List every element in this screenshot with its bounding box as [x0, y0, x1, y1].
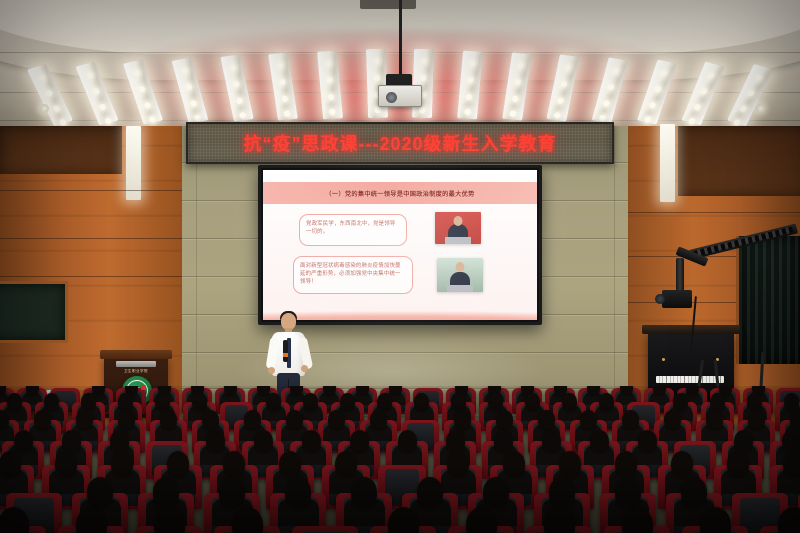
audience-head [285, 477, 311, 507]
audience-head [451, 393, 466, 410]
audience-member [351, 477, 377, 507]
podium-top-surface [100, 350, 172, 359]
audience-member [55, 451, 77, 477]
portrait-podium [447, 285, 473, 292]
video-camera-icon [662, 290, 692, 308]
audience-member [224, 386, 237, 395]
audience-member [219, 477, 245, 507]
audience-member [303, 393, 318, 410]
audience-head [81, 393, 96, 410]
audience-member [664, 410, 681, 429]
audience-member [154, 507, 185, 533]
audience-head [622, 507, 653, 533]
audience-head [599, 393, 614, 410]
wood-seam [0, 190, 182, 191]
audience-member [244, 410, 261, 429]
audience-head [34, 410, 51, 429]
audience-head [706, 410, 723, 429]
audience-head [748, 410, 765, 429]
slide-quote-text-1: 党政军民学，东西南北中，党是领导一切的。 [306, 220, 400, 236]
audience-member [734, 430, 753, 452]
wood-seam [0, 276, 182, 277]
audience-head [160, 410, 177, 429]
downlight-icon [40, 104, 49, 113]
audience-member [377, 393, 392, 410]
audience-head [590, 430, 609, 452]
audience-head [219, 477, 245, 507]
portrait-podium [445, 237, 471, 244]
audience-member [370, 410, 387, 429]
slide-quote-box-2: 面对新型冠状病毒感染的肺炎疫情加快蔓延的严重形势，必须加强党中央集中统一领导！ [293, 256, 413, 294]
audience-head [111, 451, 133, 477]
audience-head [110, 430, 129, 452]
audience-head [26, 386, 39, 395]
audience-member [417, 477, 443, 507]
audience-member [290, 386, 303, 395]
audience-head [167, 451, 189, 477]
audience-head [0, 451, 21, 477]
audience-head [681, 477, 707, 507]
audience-member [590, 430, 609, 452]
audience-member [110, 430, 129, 452]
audience-head [615, 451, 637, 477]
led-banner-text: 抗“疫”思政课---2020级新生入学教育 [243, 130, 556, 156]
audience-member [587, 386, 600, 395]
audience-member [706, 410, 723, 429]
audience-head [350, 430, 369, 452]
audience-head [76, 410, 93, 429]
ceiling-seam [0, 120, 800, 121]
audience-head [351, 477, 377, 507]
wood-seam [628, 212, 800, 213]
wood-seam [0, 238, 182, 239]
audience-head [155, 393, 170, 410]
audience-head [466, 507, 497, 533]
audience-head [562, 393, 577, 410]
audience-member [206, 430, 225, 452]
audience-head [232, 507, 263, 533]
audience-member [279, 451, 301, 477]
audience-member [44, 393, 59, 410]
right-stage-alcove [736, 236, 800, 364]
left-recessed-panel [0, 126, 122, 174]
audience-head [7, 393, 22, 410]
audience-head [503, 451, 525, 477]
audience-member [118, 393, 133, 410]
audience-member [414, 393, 429, 410]
ceiling-light-panel [366, 49, 388, 119]
audience-member [111, 451, 133, 477]
audience-member [81, 393, 96, 410]
audience-head [542, 430, 561, 452]
audience-member [671, 451, 693, 477]
audience-member [615, 451, 637, 477]
audience-head [587, 386, 600, 395]
audience-head [290, 386, 303, 395]
audience-head [483, 477, 509, 507]
audience-member [202, 410, 219, 429]
slide-title-bar: （一）党的集中统一领导是中国政治制度的最大优势 [263, 182, 537, 204]
slide-quote-text-2: 面对新型冠状病毒感染的肺炎疫情加快蔓延的严重形势，必须加强党中央集中统一领导！ [300, 262, 406, 286]
presentation-slide: （一）党的集中统一领导是中国政治制度的最大优势 党政军民学，东西南北中，党是领导… [263, 170, 537, 320]
audience-head [700, 507, 731, 533]
audience-member [748, 410, 765, 429]
audience-head [447, 451, 469, 477]
audience-member [451, 393, 466, 410]
presenter-right-hand [301, 365, 308, 372]
alcove-curtain [739, 236, 800, 364]
audience-member [673, 393, 688, 410]
emblem-accent [141, 385, 146, 390]
audience-member [285, 477, 311, 507]
audience-head [44, 393, 59, 410]
audience-member [622, 410, 639, 429]
audience-member [559, 451, 581, 477]
audience-head [488, 393, 503, 410]
audience-member [87, 477, 113, 507]
audience-member [454, 410, 471, 429]
audience-member [76, 507, 107, 533]
audience-head [154, 507, 185, 533]
audience-head [118, 410, 135, 429]
audience-head [622, 410, 639, 429]
audience-head [192, 393, 207, 410]
audience-member [446, 430, 465, 452]
audience-member [388, 507, 419, 533]
wall-light-strip [660, 124, 675, 202]
downlight-icon [756, 104, 765, 113]
audience-member [302, 430, 321, 452]
audience-member [747, 393, 762, 410]
audience-head [664, 410, 681, 429]
audience-member [782, 430, 800, 452]
audience-member [155, 393, 170, 410]
audience-member [525, 393, 540, 410]
audience-head [398, 430, 417, 452]
audience-member [549, 477, 575, 507]
audience-head [784, 393, 799, 410]
audience-member [118, 410, 135, 429]
audience-member [254, 430, 273, 452]
audience-head [710, 393, 725, 410]
audience-member [488, 393, 503, 410]
audience-member [160, 410, 177, 429]
audience-member [0, 386, 6, 395]
audience-member [328, 410, 345, 429]
auditorium-photo: 抗“疫”思政课---2020级新生入学教育 （一）党的集中统一领导是中国政治制度… [0, 0, 800, 533]
audience-member [562, 393, 577, 410]
audience-head [55, 451, 77, 477]
audience-member [727, 451, 749, 477]
audience-head [356, 386, 369, 395]
wall-light-strip [126, 126, 141, 200]
audience-member [0, 410, 9, 429]
audience-head [454, 410, 471, 429]
audience-member [26, 386, 39, 395]
right-recessed-panel [678, 126, 800, 196]
audience-member [356, 386, 369, 395]
ceiling-light-panel [412, 49, 434, 119]
audience-member [710, 393, 725, 410]
audience-head [783, 451, 800, 477]
audience-head [615, 477, 641, 507]
audience-head [782, 430, 800, 452]
presenter-left-hand [268, 367, 275, 374]
audience-head [494, 430, 513, 452]
portrait-head [454, 216, 463, 226]
audience-seating [0, 386, 800, 533]
audience-head [417, 477, 443, 507]
left-wall-window [0, 281, 68, 343]
audience-member [494, 430, 513, 452]
piano-hinge [662, 358, 665, 361]
audience-head [525, 393, 540, 410]
audience-member [466, 507, 497, 533]
audience-head [673, 393, 688, 410]
audience-member [62, 430, 81, 452]
wall-joint-line [196, 126, 197, 416]
audience-head [302, 430, 321, 452]
audience-member [14, 430, 33, 452]
audience-head [223, 451, 245, 477]
audience-member [784, 393, 799, 410]
audience-member [340, 393, 355, 410]
piano-keys [656, 376, 724, 383]
audience-head [286, 410, 303, 429]
ceiling-vent [360, 0, 416, 9]
audience-head [62, 430, 81, 452]
audience-member [790, 410, 800, 429]
audience-head [244, 410, 261, 429]
audience-member [599, 393, 614, 410]
audience-member [7, 393, 22, 410]
audience-member [398, 430, 417, 452]
audience-member [496, 410, 513, 429]
slide-title: （一）党的集中统一领导是中国政治制度的最大优势 [325, 189, 474, 198]
audience-member [778, 507, 800, 533]
audience-head [206, 430, 225, 452]
audience-member [615, 477, 641, 507]
audience-member [447, 451, 469, 477]
audience-head [153, 477, 179, 507]
audience-member [638, 430, 657, 452]
audience-member [681, 477, 707, 507]
audience-head [202, 410, 219, 429]
audience-member [653, 386, 666, 395]
auditorium-seat [292, 526, 358, 533]
audience-member [76, 410, 93, 429]
microphone-icon [283, 340, 288, 362]
audience-member [620, 386, 633, 395]
audience-head [549, 477, 575, 507]
audience-member [266, 393, 281, 410]
audience-member [335, 451, 357, 477]
audience-head [414, 393, 429, 410]
podium-label: 卫生职业学院 [112, 369, 160, 374]
audience-head [620, 386, 633, 395]
audience-member [286, 410, 303, 429]
audience-member [153, 477, 179, 507]
podium-laptop [116, 361, 156, 367]
audience-head [340, 393, 355, 410]
audience-member [34, 410, 51, 429]
audience-head [727, 451, 749, 477]
audience-member [350, 430, 369, 452]
audience-head [0, 507, 29, 533]
audience-head [638, 430, 657, 452]
audience-head [370, 410, 387, 429]
audience-head [496, 410, 513, 429]
audience-head [544, 507, 575, 533]
audience-member [232, 507, 263, 533]
audience-member [700, 507, 731, 533]
audience-member [223, 451, 245, 477]
audience-head [671, 451, 693, 477]
ceiling-projector [378, 85, 422, 107]
audience-member [542, 430, 561, 452]
audience-head [580, 410, 597, 429]
audience-head [118, 393, 133, 410]
audience-head [377, 393, 392, 410]
audience-member [503, 451, 525, 477]
audience-head [734, 430, 753, 452]
audience-member [783, 451, 800, 477]
led-banner: 抗“疫”思政课---2020级新生入学教育 [186, 122, 614, 164]
audience-head [335, 451, 357, 477]
audience-head [388, 507, 419, 533]
audience-head [224, 386, 237, 395]
audience-member [483, 477, 509, 507]
wall-joint-line [614, 126, 615, 416]
audience-head [747, 393, 762, 410]
audience-head [266, 393, 281, 410]
audience-head [254, 430, 273, 452]
audience-member [0, 451, 21, 477]
audience-head [14, 430, 33, 452]
audience-member [0, 507, 29, 533]
audience-member [192, 393, 207, 410]
audience-head [303, 393, 318, 410]
audience-head [790, 410, 800, 429]
portrait-head [456, 262, 465, 272]
audience-head [653, 386, 666, 395]
audience-member [323, 386, 336, 395]
ceiling [0, 0, 800, 128]
audience-member [544, 507, 575, 533]
slide-portrait-2 [437, 258, 483, 292]
audience-head [323, 386, 336, 395]
audience-member [580, 410, 597, 429]
audience-head [538, 410, 555, 429]
audience-head [279, 451, 301, 477]
audience-member [538, 410, 555, 429]
audience-member [167, 451, 189, 477]
audience-head [446, 430, 465, 452]
audience-head [559, 451, 581, 477]
projection-screen: （一）党的集中统一领导是中国政治制度的最大优势 党政军民学，东西南北中，党是领导… [258, 165, 542, 325]
audience-head [76, 507, 107, 533]
slide-portrait-1 [435, 212, 481, 244]
audience-member [622, 507, 653, 533]
audience-head [328, 410, 345, 429]
audience-head [87, 477, 113, 507]
slide-quote-box-1: 党政军民学，东西南北中，党是领导一切的。 [299, 214, 407, 246]
audience-head [778, 507, 800, 533]
